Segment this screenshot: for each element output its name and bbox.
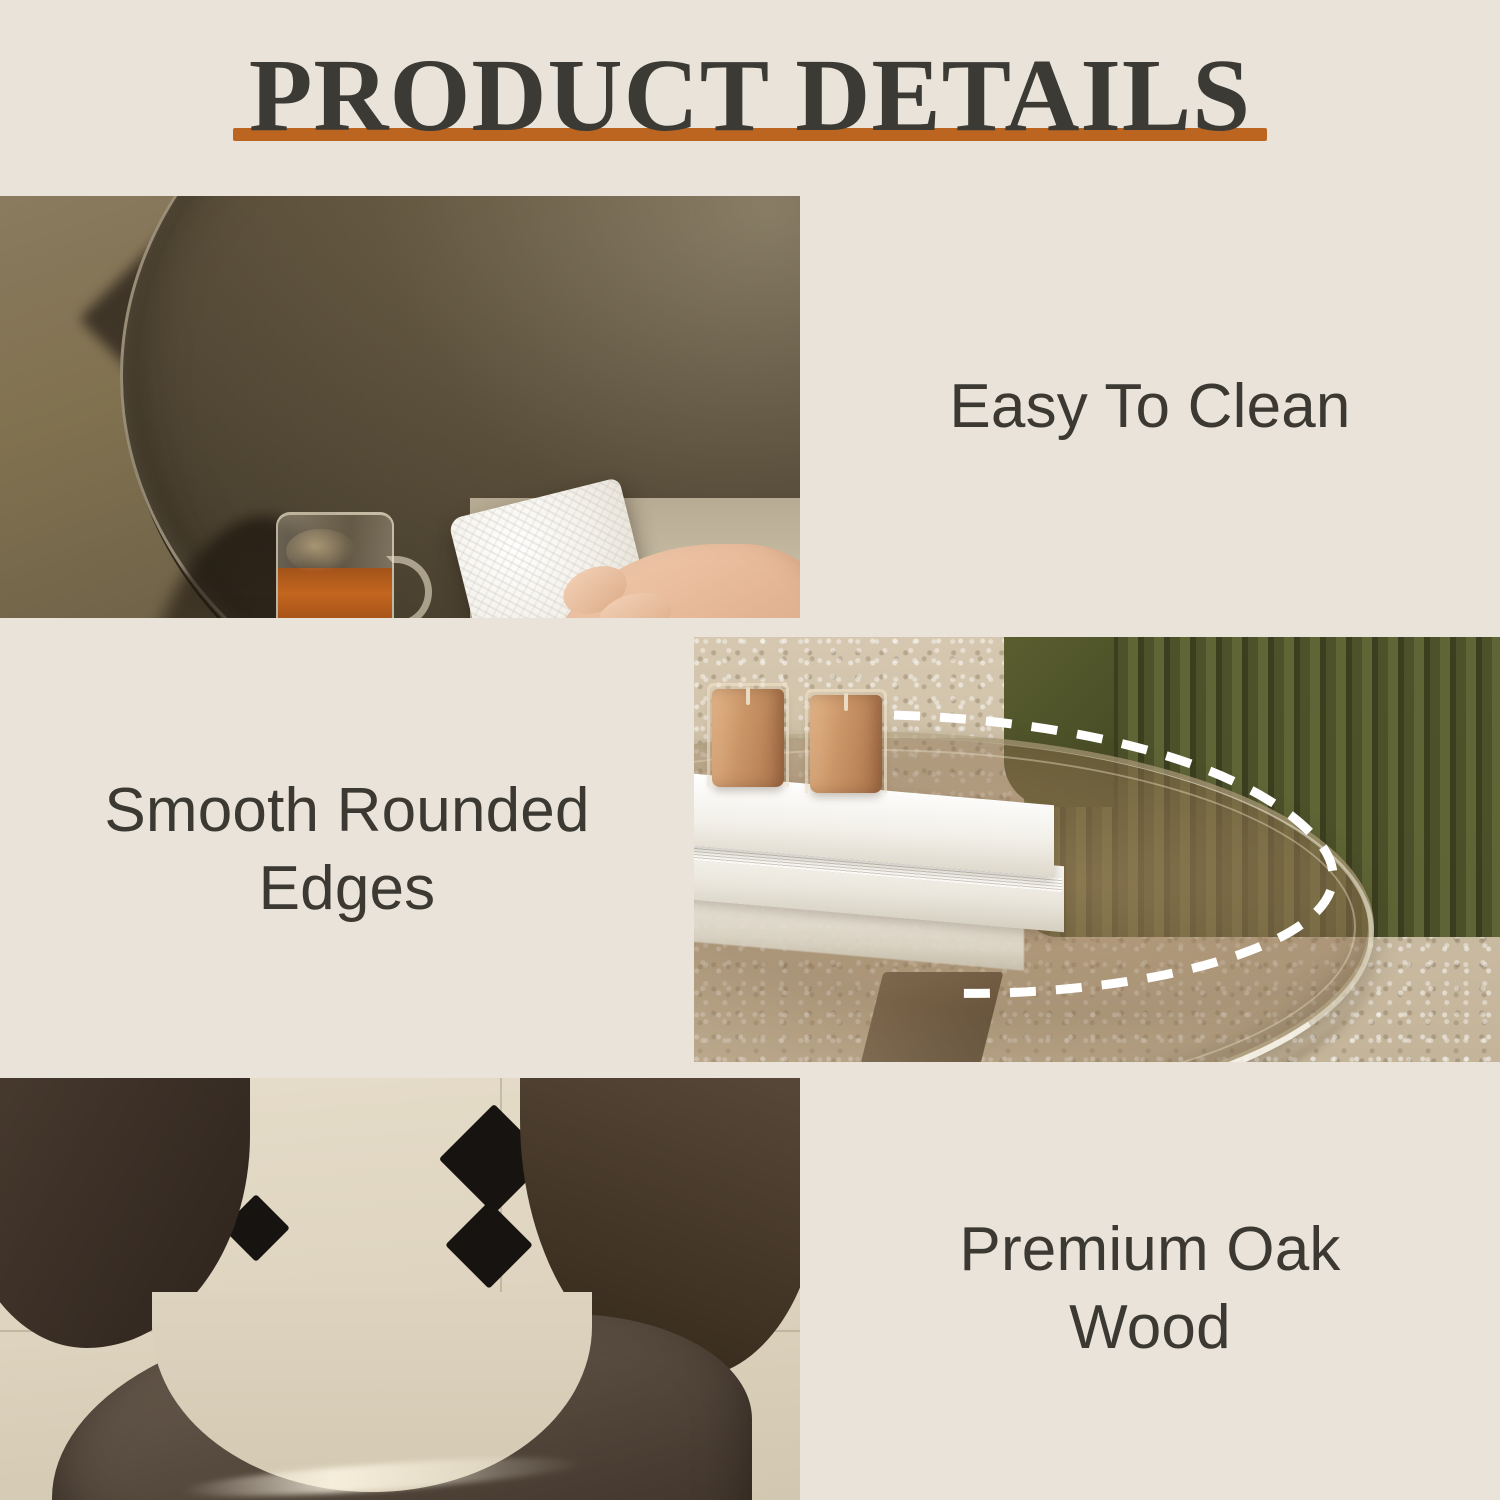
page-header: PRODUCT DETAILS bbox=[0, 0, 1500, 196]
glass-mug bbox=[276, 512, 406, 618]
mug-body bbox=[276, 512, 394, 618]
tea-gloss-highlight bbox=[286, 529, 356, 573]
feature-caption-oak-wood: Premium Oak Wood bbox=[800, 1078, 1500, 1500]
feature-caption-text: Premium Oak Wood bbox=[959, 1211, 1340, 1367]
page-title: PRODUCT DETAILS bbox=[249, 38, 1251, 153]
feature-image-oak-wood bbox=[0, 1078, 800, 1500]
feature-caption-line-2: Wood bbox=[1069, 1293, 1231, 1362]
feature-caption-line-2: Edges bbox=[259, 854, 436, 923]
feature-caption-easy-clean: Easy To Clean bbox=[800, 196, 1500, 618]
feature-caption-line-1: Premium Oak bbox=[959, 1215, 1340, 1284]
feature-caption-rounded-edges: Smooth Rounded Edges bbox=[0, 637, 694, 1062]
page-title-wrap: PRODUCT DETAILS bbox=[0, 42, 1500, 150]
feature-caption-line-1: Smooth Rounded bbox=[104, 776, 589, 845]
rounded-edge-dashed-annotation bbox=[694, 637, 1500, 1062]
feature-image-easy-clean bbox=[0, 196, 800, 618]
feature-image-rounded-edges bbox=[694, 637, 1500, 1062]
feature-caption-text: Smooth Rounded Edges bbox=[104, 772, 589, 928]
page-title-inner: PRODUCT DETAILS bbox=[249, 42, 1251, 150]
tea-liquid bbox=[278, 568, 392, 618]
product-details-page: PRODUCT DETAILS Easy To Clean bbox=[0, 0, 1500, 1500]
feature-caption-text: Easy To Clean bbox=[949, 368, 1350, 446]
